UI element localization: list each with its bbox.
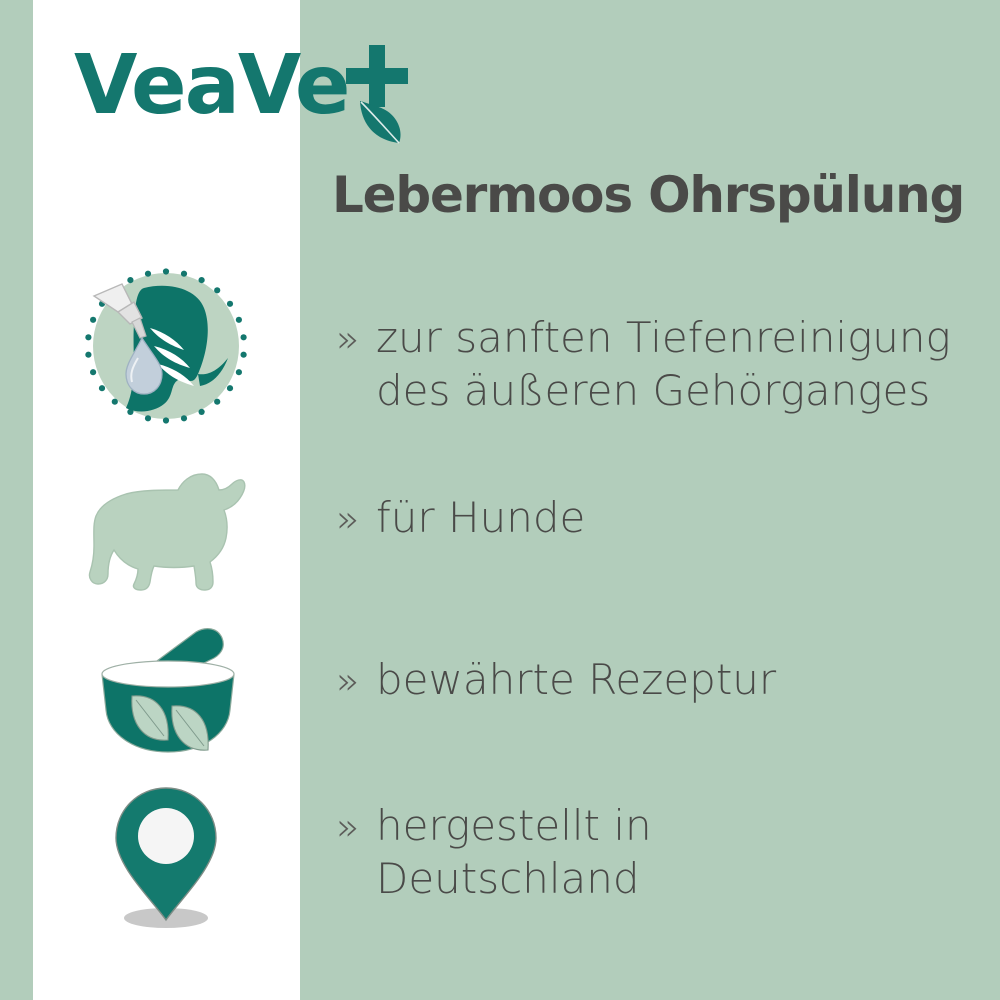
feature-row-made-in-germany: »hergestellt inDeutschland (0, 782, 1000, 937)
brand-logo: VeaVe (74, 36, 434, 146)
page-title: Lebermoos Ohrspülung (332, 166, 982, 224)
bullet-marker: » (336, 801, 376, 853)
feature-text-made-in-germany: »hergestellt inDeutschland (336, 800, 652, 905)
mortar-pestle-icon (88, 624, 248, 756)
ear-drops-icon (82, 262, 250, 430)
feature-row-for-dogs: »für Hunde (0, 466, 1000, 596)
feature-text-deep-cleaning: »zur sanften Tiefenreinigungdes äußeren … (336, 312, 951, 417)
feature-line-2: des äußeren Gehörganges (336, 365, 951, 417)
map-pin-icon (100, 782, 232, 932)
feature-row-deep-cleaning: »zur sanften Tiefenreinigungdes äußeren … (0, 262, 1000, 442)
feature-line-1: für Hunde (376, 493, 585, 542)
feature-line-1: bewährte Rezeptur (376, 655, 776, 704)
feature-row-proven-formula: »bewährte Rezeptur (0, 622, 1000, 762)
feature-line-1: hergestellt in (376, 801, 652, 850)
bullet-marker: » (336, 493, 376, 545)
bullet-marker: » (336, 655, 376, 707)
feature-text-proven-formula: »bewährte Rezeptur (336, 654, 776, 707)
feature-line-2: Deutschland (336, 853, 652, 905)
bullet-marker: » (336, 313, 376, 365)
leaf-icon (357, 98, 407, 146)
feature-line-1: zur sanften Tiefenreinigung (376, 313, 951, 362)
dog-icon (86, 468, 250, 592)
product-feature-card: VeaVe Lebermoos Ohrspülung (0, 0, 1000, 1000)
brand-wordmark: VeaVe (74, 36, 349, 136)
feature-text-for-dogs: »für Hunde (336, 492, 585, 545)
